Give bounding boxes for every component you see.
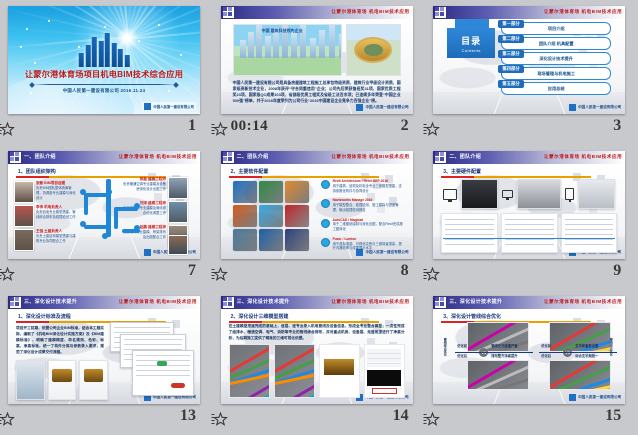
slide-rule [229,176,379,178]
slide-canvas: 让蒙尔港体育场项目机电BIM技术综合应用中国人民第一建设有限公司 2016.11… [8,6,200,114]
bullet-icon [321,238,330,247]
software-notes: Revit Architecture / Revit MEP 2016用于建筑、… [321,179,405,256]
member-photo [168,201,188,223]
comparison-divider [455,352,533,353]
software-note-text: AutoCAD / Magicad用于二维图纸绘制与深化出图，配合Revit完成… [333,218,405,232]
hardware-row [443,177,615,211]
spec-row [445,239,494,240]
slide-header-right: 让蒙尔港体育场 机电BIM技术应用 [544,9,622,15]
slide-number: 2 [401,117,409,135]
slide-header-title: 二、团队介绍 [449,153,481,160]
contents-item-tag: 第五部分 [498,80,524,88]
spec-row [505,229,554,230]
software-note: Revit Architecture / Revit MEP 2016用于建筑、… [321,179,405,193]
spec-row [565,229,614,230]
slide-footer: 00:142 [213,117,415,143]
member-note: 李伟 机电负责人负责机电专业模型搭建、管线综合排布及碰撞检测工作 [36,205,76,220]
slide-logo: 中国人民第一建设有限公司 [356,104,408,111]
slide-sub-title: 2、主要软件配置 [231,168,269,175]
spec-row [505,234,554,235]
star-icon[interactable] [0,411,18,429]
software-icon [285,205,309,227]
slide-header-title: 二、团队介绍 [237,153,269,160]
slide-header-title: 三、深化设计技术提升 [237,298,290,305]
logo-mark [144,103,151,110]
slide-logo: 中国人民第一建设有限公司 [569,104,621,111]
header-logo-mark [223,152,234,163]
comparison-image [549,360,611,390]
slide-sub-title: 3、主要硬件配置 [443,168,481,175]
spec-row [565,234,614,235]
spec-row [445,244,494,245]
contents-item-label: 应用总结 [548,86,565,92]
overview-images: 中国 建筑科技领先企业 [233,24,401,76]
logo-mark [356,104,363,111]
contents-item-tag: 第一部分 [498,20,524,28]
slide-number: 14 [393,407,409,425]
contents-item-label: 团队介绍 机具配置 [539,41,574,47]
city-photo: 中国 建筑科技领先企业 [233,24,343,76]
comparison-side-label: 管线综合优化 [609,338,613,356]
spec-row [505,244,554,245]
slide-thumbnail[interactable]: 二、团队介绍让蒙尔港体育场 机电BIM技术应用2、主要软件配置中国人民第一建设有… [221,151,413,259]
contents-item-tag: 第三部分 [498,50,524,58]
member-photo [168,177,188,199]
contents-item-label: 项目介绍 [548,26,565,32]
star-icon[interactable] [0,121,18,139]
software-note: Fuzor / Lumion用于虚拟漫游、可视化交底与三维场景渲染，提升沟通效率… [321,237,405,251]
contents-item-label: 深化设计技术提升 [539,56,573,62]
software-note-title: Fuzor / Lumion [333,237,357,241]
logo-text: 中国人民第一建设有限公司 [153,104,194,109]
slide-thumbnail[interactable]: 二、团队介绍让蒙尔港体育场 机电BIM技术应用3、主要硬件配置中国人民第一建设有… [433,151,625,259]
slide-cell-1: 让蒙尔港体育场项目机电BIM技术综合应用中国人民第一建设有限公司 2016.11… [0,0,213,145]
contents-item[interactable]: 第四部分现场管理与机电施工 [501,67,611,80]
slide-cell-13: 三、深化设计技术提升让蒙尔港体育场 机电BIM技术应用1、深化设计标准及流程中国… [0,290,213,435]
member-note: 王强 土建负责人负责土建结构模型搭建与建筑专业协同配合工作 [36,229,76,244]
star-icon[interactable] [423,266,443,284]
city-caption: 中国 建筑科技领先企业 [262,28,303,34]
software-note-title: Revit Architecture / Revit MEP 2016 [333,179,388,183]
software-icon [233,205,257,227]
pipe-images [229,344,405,398]
pipe-model-image [274,344,315,398]
accent-underline [443,238,615,239]
design-book [79,360,108,400]
cover-title: 让蒙尔港体育场项目机电BIM技术综合应用 [8,68,200,80]
design-sheets [110,322,194,400]
slide-header-title: 一、团队介绍 [24,153,56,160]
pipe-document [319,344,360,398]
slide-header-title: 三、深化设计技术提升 [449,298,502,305]
desktop-icon [443,189,457,200]
logo-mark [144,249,151,256]
overview-body: 中国人民第一建设有限公司是具备房屋建筑工程施工总承包特级资质、建筑行业甲级设计资… [233,80,401,104]
header-logo-mark [10,297,21,308]
slide-header-right: 让蒙尔港体育场 机电BIM技术应用 [119,299,197,305]
contents-badge-cn: 目录 [461,34,481,47]
slide-canvas: 三、深化设计技术提升让蒙尔港体育场 机电BIM技术应用3、深化设计管线综合优化中… [433,296,625,404]
header-logo-mark [435,7,446,18]
slide-number: 7 [188,262,196,280]
design-sheet [132,350,194,396]
slide-thumbnail[interactable]: 三、深化设计技术提升让蒙尔港体育场 机电BIM技术应用1、深化设计标准及流程中国… [8,296,200,404]
contents-cap [455,19,489,28]
stadium-ring [354,37,392,63]
spec-row [445,234,494,235]
slide-footer: 13 [0,407,202,433]
spec-row [505,224,554,225]
contents-item[interactable]: 第一部分项目介绍 [501,22,611,35]
software-note: Navisworks Manage 2016用于模型整合、碰撞检测、施工模拟与进… [321,198,405,212]
slide-number: 3 [613,117,621,135]
member-name: 王强 土建负责人 [36,229,76,234]
comparison-divider [539,352,617,353]
header-logo-mark [435,152,446,163]
contents-item-tag: 第二部分 [498,35,524,43]
slide-canvas: 三、深化设计技术提升让蒙尔港体育场 机电BIM技术应用2、深化设计三维模型搭建中… [221,296,413,404]
contents-badge: 目录Contents [447,28,495,58]
slide-thumbnail[interactable]: 三、深化设计技术提升让蒙尔港体育场 机电BIM技术应用3、深化设计管线综合优化中… [433,296,625,404]
slide-number: 9 [613,262,621,280]
hardware-photo [517,179,561,209]
cover-divider [32,84,176,85]
slide-cell-14: 三、深化设计技术提升让蒙尔港体育场 机电BIM技术应用2、深化设计三维模型搭建中… [213,290,426,435]
slide-cell-3: 让蒙尔港体育场 机电BIM技术应用中国人民第一建设有限公司目录Contents第… [425,0,638,145]
slide-timer: 00:14 [231,118,269,135]
slide-header-right: 让蒙尔港体育场 机电BIM技术应用 [331,299,409,305]
slide-cell-9: 二、团队介绍让蒙尔港体育场 机电BIM技术应用3、主要硬件配置中国人民第一建设有… [425,145,638,290]
header-logo-mark [10,152,21,163]
star-icon[interactable] [211,411,231,429]
slide-footer: 7 [0,262,202,288]
slide-header-right: 让蒙尔港体育场 机电BIM技术应用 [331,154,409,160]
software-icon [259,205,283,227]
contents-item-label: 现场管理与机电施工 [537,71,575,77]
slide-canvas: 一、团队介绍让蒙尔港体育场 机电BIM技术应用1、团队组织架构中国人民第一建设有… [8,151,200,259]
stadium-photo [346,24,400,76]
building-graphic [79,33,130,67]
hardware-photo [578,179,615,209]
software-icon [233,181,257,203]
cover-subtitle: 中国人民第一建设有限公司 2016.11.24 [8,88,200,94]
contents-item[interactable]: 第五部分应用总结 [501,82,611,95]
software-icon [233,229,257,251]
spec-row [445,224,494,225]
comparison-right-label: 优化后 [457,354,467,359]
spec-row [565,224,614,225]
header-logo-mark [435,297,446,308]
member-photo [14,181,34,203]
slide-canvas: 二、团队介绍让蒙尔港体育场 机电BIM技术应用2、主要软件配置中国人民第一建设有… [221,151,413,259]
comparison-right-label: 优化后 [541,354,551,359]
spec-row [565,244,614,245]
comparison-caption-b: 排布整齐净高提升 [491,354,531,359]
spec-row [505,219,554,220]
spec-card [441,213,498,253]
spec-row [565,219,614,220]
pipe-model-image [229,344,270,398]
contents-badge-en: Contents [462,48,481,53]
slide-footer: 1 [0,117,202,143]
spec-row [445,219,494,220]
slide-footer: 8 [213,262,415,288]
cover-logo: 中国人民第一建设有限公司 [142,102,196,110]
contents-item[interactable]: 第三部分深化设计技术提升 [501,52,611,65]
slide-number: 13 [180,407,196,425]
slide-canvas: 让蒙尔港体育场 机电BIM技术应用中国人民第一建设有限公司中国 建筑科技领先企业… [221,6,413,114]
comparison-left-label: 优化前 [457,344,467,349]
slide-header-right: 让蒙尔港体育场 机电BIM技术应用 [119,154,197,160]
bullet-icon [321,180,330,189]
slide-canvas: 让蒙尔港体育场 机电BIM技术应用中国人民第一建设有限公司目录Contents第… [433,6,625,114]
slide-rule [229,321,379,323]
slide-cell-7: 一、团队介绍让蒙尔港体育场 机电BIM技术应用1、团队组织架构中国人民第一建设有… [0,145,213,290]
bullet-icon [321,199,330,208]
software-icon [285,181,309,203]
star-icon[interactable] [211,266,231,284]
slide-cell-2: 让蒙尔港体育场 机电BIM技术应用中国人民第一建设有限公司中国 建筑科技领先企业… [213,0,426,145]
slide-thumbnail[interactable]: 让蒙尔港体育场 机电BIM技术应用中国人民第一建设有限公司目录Contents第… [433,6,625,114]
spec-row [445,229,494,230]
software-icon [259,229,283,251]
member-photo [14,205,34,227]
software-note-text: Revit Architecture / Revit MEP 2016用于建筑、… [333,179,405,193]
laptop-icon [502,190,513,198]
slide-cell-15: 三、深化设计技术提升让蒙尔港体育场 机电BIM技术应用3、深化设计管线综合优化中… [425,290,638,435]
header-logo-mark [223,297,234,308]
logo-mark [569,104,576,111]
software-icon [285,229,309,251]
star-icon[interactable] [0,266,18,284]
software-note: AutoCAD / Magicad用于二维图纸绘制与深化出图，配合Revit完成… [321,218,405,232]
spec-card [561,213,618,253]
slide-number: 8 [401,262,409,280]
slide-sub-title: 1、团队组织架构 [18,168,56,175]
design-books [16,360,108,400]
member-note: 张敏 BIM项目经理负责BIM团队整体统筹管理，协调各专业建模与深化设计 [36,181,76,201]
logo-mark [569,394,576,401]
member-photo [14,229,34,251]
spec-cards [441,213,617,253]
star-icon[interactable] [211,121,231,139]
star-icon[interactable] [423,121,443,139]
slide-footer: 9 [425,262,627,288]
software-note-text: Navisworks Manage 2016用于模型整合、碰撞检测、施工模拟与进… [333,198,405,212]
slide-cell-8: 二、团队介绍让蒙尔港体育场 机电BIM技术应用2、主要软件配置中国人民第一建设有… [213,145,426,290]
design-book [16,360,45,400]
logo-text: 中国人民第一建设有限公司 [578,105,621,110]
contents-item[interactable]: 第二部分团队介绍 机具配置 [501,37,611,50]
org-tree [76,175,146,243]
member-photo [168,235,188,255]
slide-footer: 14 [213,407,415,433]
slide-header-title: 三、深化设计技术提升 [24,298,77,305]
contents-item-tag: 第四部分 [498,65,524,73]
star-icon[interactable] [423,411,443,429]
spec-row [505,239,554,240]
comparison-side-label: 管线综合优化 [443,338,447,356]
comparison-caption-a: 管线交叉碰撞严重 [491,344,531,349]
member-name: 李伟 机电负责人 [36,205,76,210]
design-book [48,360,77,400]
slide-number: 1 [188,117,196,135]
slide-canvas: 三、深化设计技术提升让蒙尔港体育场 机电BIM技术应用1、深化设计标准及流程中国… [8,296,200,404]
comparison-image [467,360,529,390]
slide-thumbnail[interactable]: 让蒙尔港体育场 机电BIM技术应用中国人民第一建设有限公司中国 建筑科技领先企业… [221,6,413,114]
spec-row [565,239,614,240]
slide-thumbnail[interactable]: 三、深化设计技术提升让蒙尔港体育场 机电BIM技术应用2、深化设计三维模型搭建中… [221,296,413,404]
logo-text: 中国人民第一建设有限公司 [578,395,621,400]
pipe-report [364,344,405,398]
contents-list: 第一部分项目介绍第二部分团队介绍 机具配置第三部分深化设计技术提升第四部分现场管… [501,22,611,97]
slide-header-right: 让蒙尔港体育场 机电BIM技术应用 [544,299,622,305]
slide-thumbnail-grid[interactable]: 让蒙尔港体育场项目机电BIM技术综合应用中国人民第一建设有限公司 2016.11… [0,0,638,435]
slide-number: 15 [605,407,621,425]
comparison-left-label: 优化前 [541,344,551,349]
tablet-icon [565,188,574,200]
cover-background: 让蒙尔港体育场项目机电BIM技术综合应用中国人民第一建设有限公司 2016.11… [8,6,200,114]
software-icon [259,181,283,203]
slide-footer: 15 [425,407,627,433]
logo-text: 中国人民第一建设有限公司 [365,105,408,110]
member-name: 张敏 BIM项目经理 [36,181,76,186]
software-note-text: Fuzor / Lumion用于虚拟漫游、可视化交底与三维场景渲染，提升沟通效率… [333,237,405,251]
slide-sub-title: 1、深化设计标准及流程 [18,313,71,320]
software-note-title: Navisworks Manage 2016 [333,198,373,202]
slide-thumbnail[interactable]: 让蒙尔港体育场项目机电BIM技术综合应用中国人民第一建设有限公司 2016.11… [8,6,200,114]
header-logo-mark [223,7,234,18]
bullet-icon [321,219,330,228]
slide-header-right: 让蒙尔港体育场 机电BIM技术应用 [331,9,409,15]
slide-thumbnail[interactable]: 一、团队介绍让蒙尔港体育场 机电BIM技术应用1、团队组织架构中国人民第一建设有… [8,151,200,259]
software-grid [233,181,309,251]
slide-header-right: 让蒙尔港体育场 机电BIM技术应用 [544,154,622,160]
spec-card [501,213,558,253]
slide-sub-title: 3、深化设计管线综合优化 [443,313,501,320]
slide-canvas: 二、团队介绍让蒙尔港体育场 机电BIM技术应用3、主要硬件配置中国人民第一建设有… [433,151,625,259]
design-body: 项目开工前期，依据公司企业BIM标准，结合本工程实际，编制了《机电BIM深化设计… [16,326,104,356]
slide-footer: 3 [425,117,627,143]
pipe-body: 在土建模型搭建完成的基础上，逐层、逐专业录入机电管线及设备信息，形成全专业整合模… [229,324,405,342]
software-note-title: AutoCAD / Magicad [333,218,364,222]
slide-sub-title: 2、深化设计三维模型搭建 [231,313,289,320]
slide-logo: 中国人民第一建设有限公司 [569,394,621,401]
hardware-photo [461,179,498,209]
